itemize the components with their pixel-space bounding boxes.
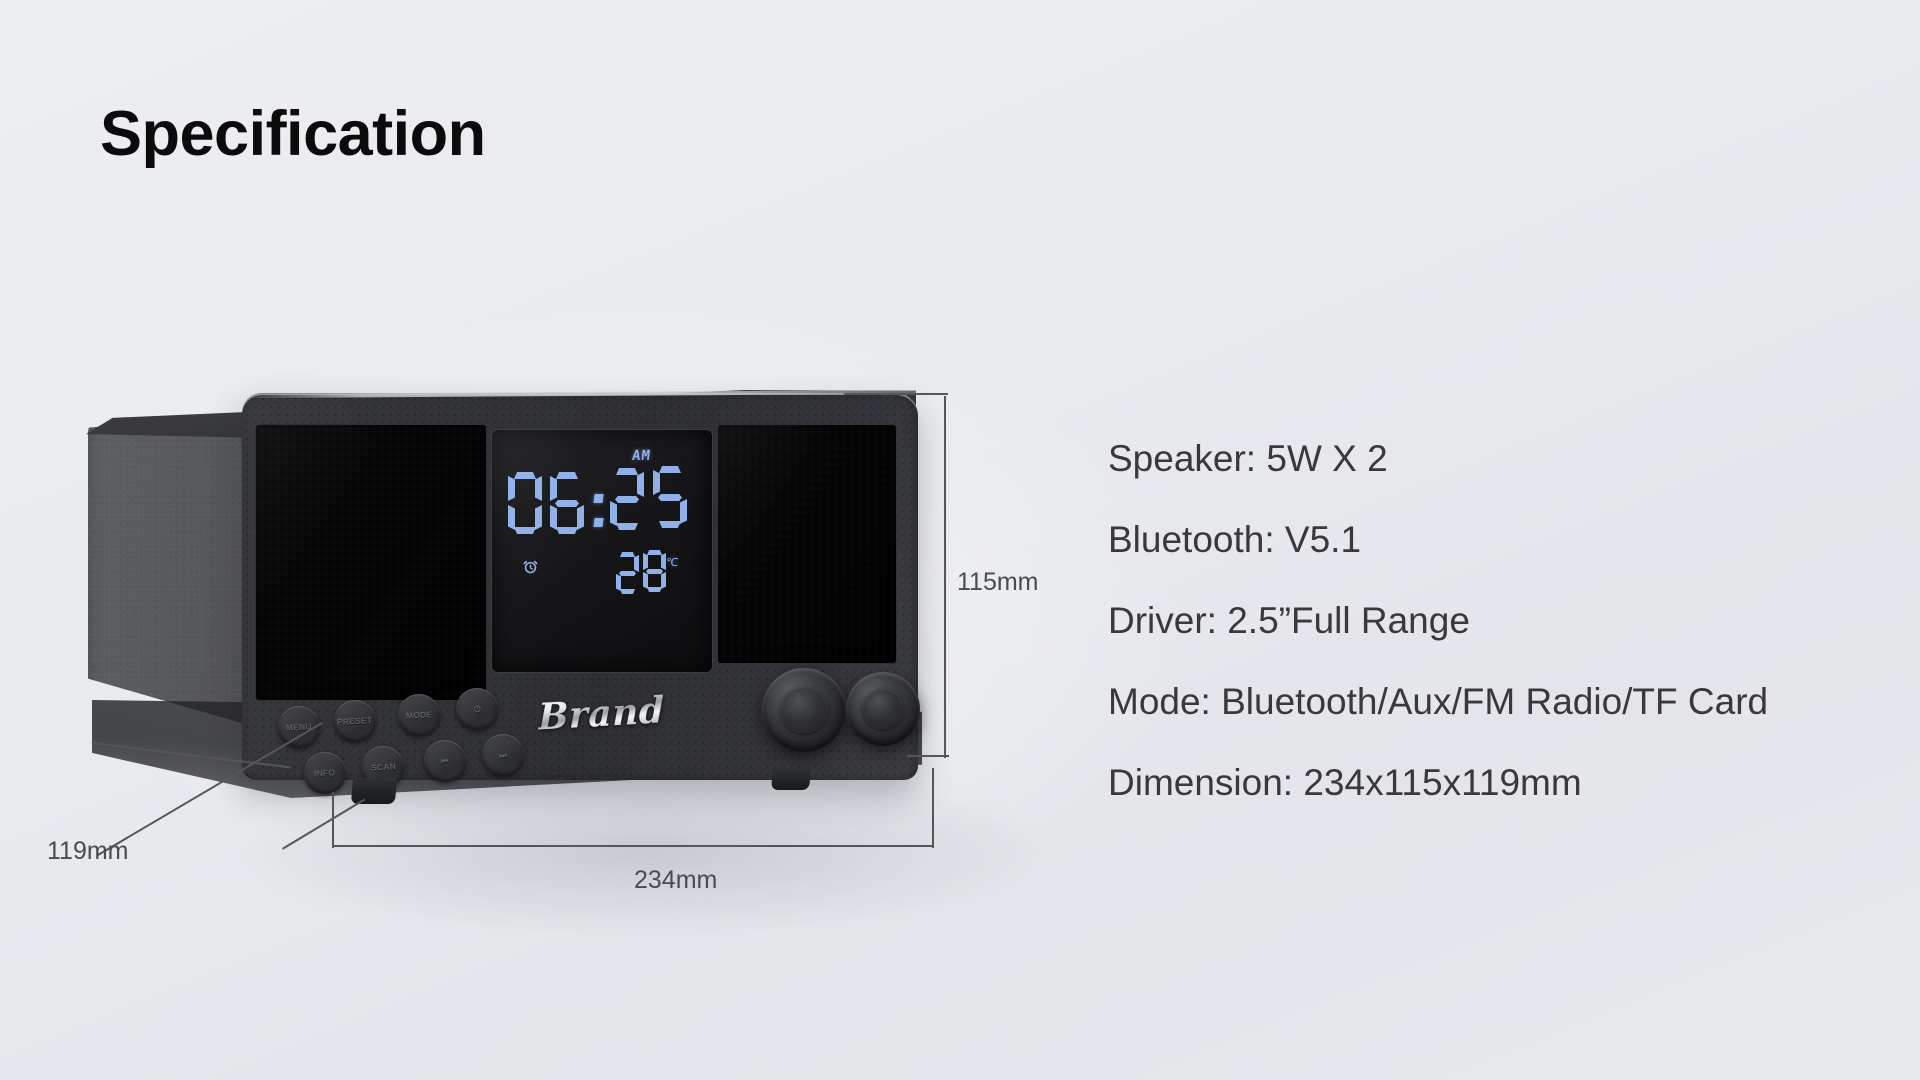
button-scan[interactable]: SCAN: [362, 746, 404, 788]
spec-item-bluetooth: Bluetooth: V5.1: [1108, 521, 1908, 558]
tuning-knob[interactable]: [846, 672, 920, 746]
lcd-screen: AM ℃: [506, 446, 698, 642]
page-title: Specification: [100, 100, 486, 169]
product-foot-left: [351, 778, 397, 804]
speaker-grille-left: [256, 425, 486, 700]
temperature-ones-digit: [643, 550, 666, 592]
spec-item-driver: Driver: 2.5”Full Range: [1108, 602, 1908, 639]
width-dimension-line: [334, 845, 934, 847]
clock-hour-tens-digit: [508, 472, 542, 534]
alarm-clock-icon: [522, 558, 539, 575]
brand-logo: Brand: [538, 689, 665, 738]
specification-page: Specification AM ℃: [0, 0, 1920, 1080]
height-dimension-tick-top: [844, 393, 948, 395]
meridiem-indicator: AM: [631, 448, 652, 464]
width-dimension-tick-left: [332, 792, 334, 848]
button-power[interactable]: ⏻: [456, 688, 498, 730]
product-top-edge-highlight: [240, 390, 916, 398]
volume-knob[interactable]: [762, 668, 846, 752]
button-preset[interactable]: PRESET: [334, 700, 376, 742]
height-dimension-tick-bottom: [907, 755, 949, 757]
depth-dimension-tick-top: [92, 742, 291, 768]
product-foot-right: [771, 768, 811, 790]
temperature-unit-label: ℃: [665, 556, 679, 569]
button-prev[interactable]: ⏮: [424, 740, 466, 782]
product-left-side-panel: [88, 408, 293, 738]
width-dimension-label: 234mm: [634, 866, 717, 895]
clock-minute-ones-digit: [653, 466, 687, 528]
button-next[interactable]: ⏭: [482, 734, 524, 776]
depth-dimension-tick-bottom: [282, 799, 365, 850]
height-dimension-line: [944, 396, 946, 758]
clock-minute-tens-digit: [610, 468, 644, 530]
depth-dimension-label: 119mm: [47, 837, 129, 866]
temperature-tens-digit: [616, 552, 639, 594]
spec-item-dimension: Dimension: 234x115x119mm: [1108, 764, 1908, 801]
product-front-body: [242, 393, 918, 780]
clock-hour-ones-digit: [550, 472, 584, 534]
product-floor-shadow: [70, 700, 1220, 1000]
speaker-grille-right: [718, 425, 896, 663]
width-dimension-tick-right: [932, 768, 934, 848]
specification-list: Speaker: 5W X 2 Bluetooth: V5.1 Driver: …: [1108, 440, 1908, 801]
product-top-panel: [86, 390, 916, 438]
clock-colon: [594, 488, 603, 534]
button-mode[interactable]: MODE: [398, 694, 440, 736]
lcd-bezel: AM ℃: [492, 430, 712, 672]
height-dimension-label: 115mm: [957, 568, 1039, 597]
spec-item-mode: Mode: Bluetooth/Aux/FM Radio/TF Card: [1108, 683, 1908, 720]
depth-dimension-line: [96, 722, 323, 856]
spec-item-speaker: Speaker: 5W X 2: [1108, 440, 1908, 477]
button-info[interactable]: INFO: [304, 752, 346, 794]
